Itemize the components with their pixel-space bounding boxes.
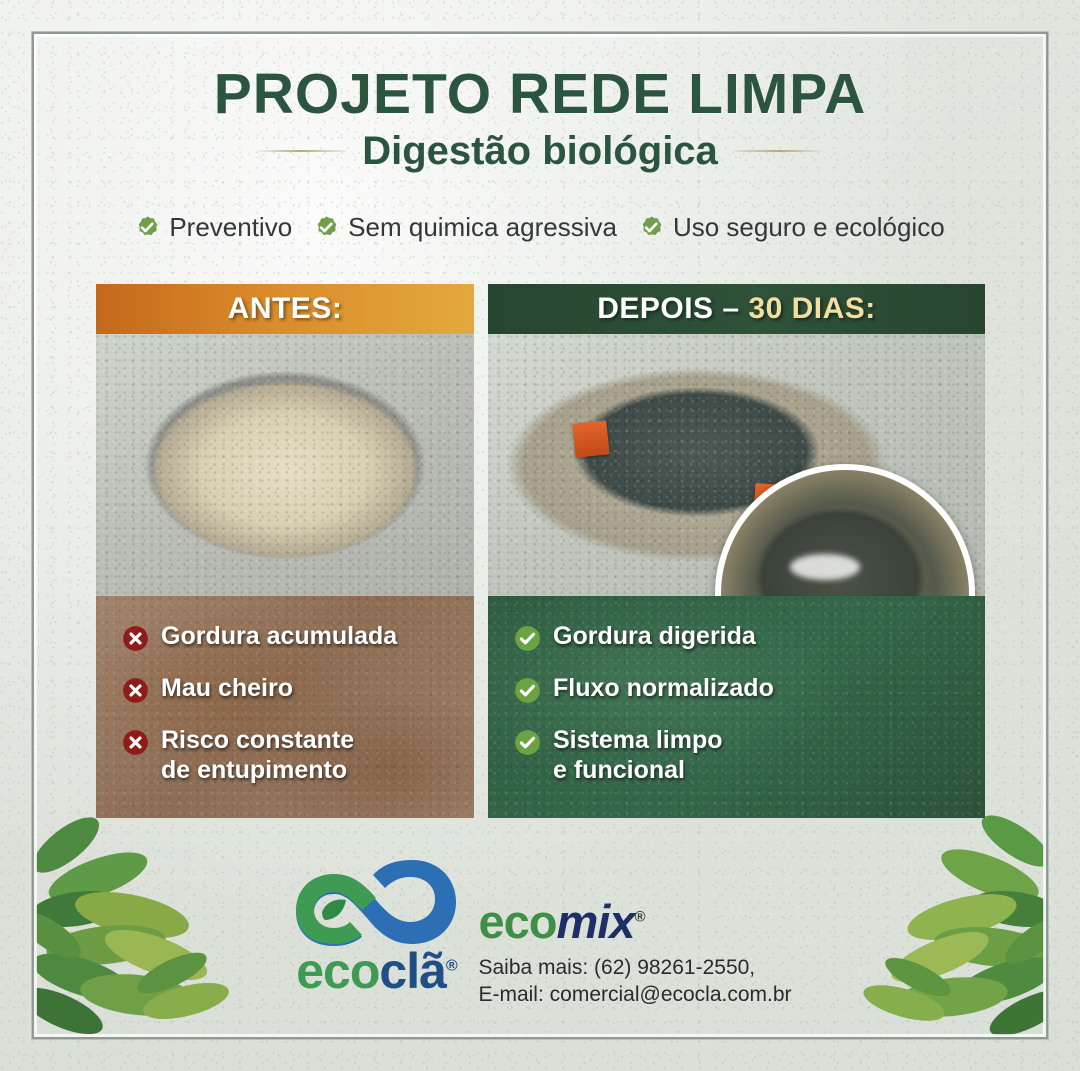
list-item: Fluxo normalizado (514, 674, 985, 704)
check-circle-icon (514, 729, 541, 756)
benefit-item: Preventivo (135, 212, 292, 243)
contact-phone[interactable]: Saiba mais: (62) 98261-2550, (478, 955, 791, 982)
list-item-label: Gordura acumulada (161, 622, 397, 652)
poster-header: PROJETO REDE LIMPA Digestão biológica (0, 64, 1080, 172)
list-item-label: Sistema limpo e funcional (553, 726, 723, 785)
list-item-label: Fluxo normalizado (553, 674, 774, 704)
list-item-label: Mau cheiro (161, 674, 293, 704)
subtitle-row: Digestão biológica (0, 130, 1080, 172)
check-badge-icon (135, 215, 160, 240)
ecocla-wordmark: ecoclã® (296, 946, 456, 996)
after-photo (488, 334, 985, 596)
list-item: Mau cheiro (122, 674, 474, 704)
brick-fragment (572, 420, 609, 457)
x-circle-icon (122, 625, 149, 652)
before-panel: ANTES: Gordura acumulada (96, 284, 474, 818)
after-results-list: Gordura digerida Fluxo normalizado Siste… (488, 596, 985, 818)
ecomix-and-contact: ecomix® Saiba mais: (62) 98261-2550, E-m… (478, 860, 791, 1009)
check-circle-icon (514, 677, 541, 704)
x-circle-icon (122, 677, 149, 704)
page-title: PROJETO REDE LIMPA (0, 64, 1080, 124)
rule-right-icon (734, 150, 826, 152)
after-header-label: DEPOIS – 30 DIAS: (597, 292, 876, 326)
contact-email[interactable]: E-mail: comercial@ecocla.com.br (478, 982, 791, 1009)
comparison-section: ANTES: Gordura acumulada (96, 284, 985, 818)
water-glint (790, 554, 860, 580)
list-item-label: Risco constante de entupimento (161, 726, 354, 785)
before-header-label: ANTES: (228, 292, 343, 326)
benefit-label: Sem quimica agressiva (348, 212, 617, 243)
benefit-item: Sem quimica agressiva (314, 212, 617, 243)
check-circle-icon (514, 625, 541, 652)
before-issues-list: Gordura acumulada Mau cheiro Risco const… (96, 596, 474, 818)
benefit-item: Uso seguro e ecológico (639, 212, 945, 243)
ecocla-infinity-leaf-logo-icon (288, 860, 464, 952)
x-circle-icon (122, 729, 149, 756)
list-item-label: Gordura digerida (553, 622, 756, 652)
check-badge-icon (314, 215, 339, 240)
list-item: Risco constante de entupimento (122, 726, 474, 785)
list-item: Sistema limpo e funcional (514, 726, 985, 785)
benefit-label: Preventivo (169, 212, 292, 243)
rule-left-icon (254, 150, 346, 152)
page-subtitle: Digestão biológica (362, 130, 718, 172)
contact-info: Saiba mais: (62) 98261-2550, E-mail: com… (478, 955, 791, 1009)
photo-texture (96, 334, 474, 596)
before-header-bar: ANTES: (96, 284, 474, 334)
ecocla-brand: ecoclã® (288, 860, 464, 996)
before-photo (96, 334, 474, 596)
poster-canvas: PROJETO REDE LIMPA Digestão biológica Pr… (0, 0, 1080, 1071)
benefit-label: Uso seguro e ecológico (673, 212, 945, 243)
after-header-highlight: 30 DIAS: (748, 292, 875, 325)
benefits-row: Preventivo Sem quimica agressiva Uso seg… (0, 212, 1080, 243)
list-item: Gordura digerida (514, 622, 985, 652)
footer-branding: ecoclã® ecomix® Saiba mais: (62) 98261-2… (0, 860, 1080, 1009)
ecomix-wordmark: ecomix® (478, 898, 791, 945)
list-item: Gordura acumulada (122, 622, 474, 652)
after-panel: DEPOIS – 30 DIAS: Gordura dig (488, 284, 985, 818)
check-badge-icon (639, 215, 664, 240)
after-header-bar: DEPOIS – 30 DIAS: (488, 284, 985, 334)
